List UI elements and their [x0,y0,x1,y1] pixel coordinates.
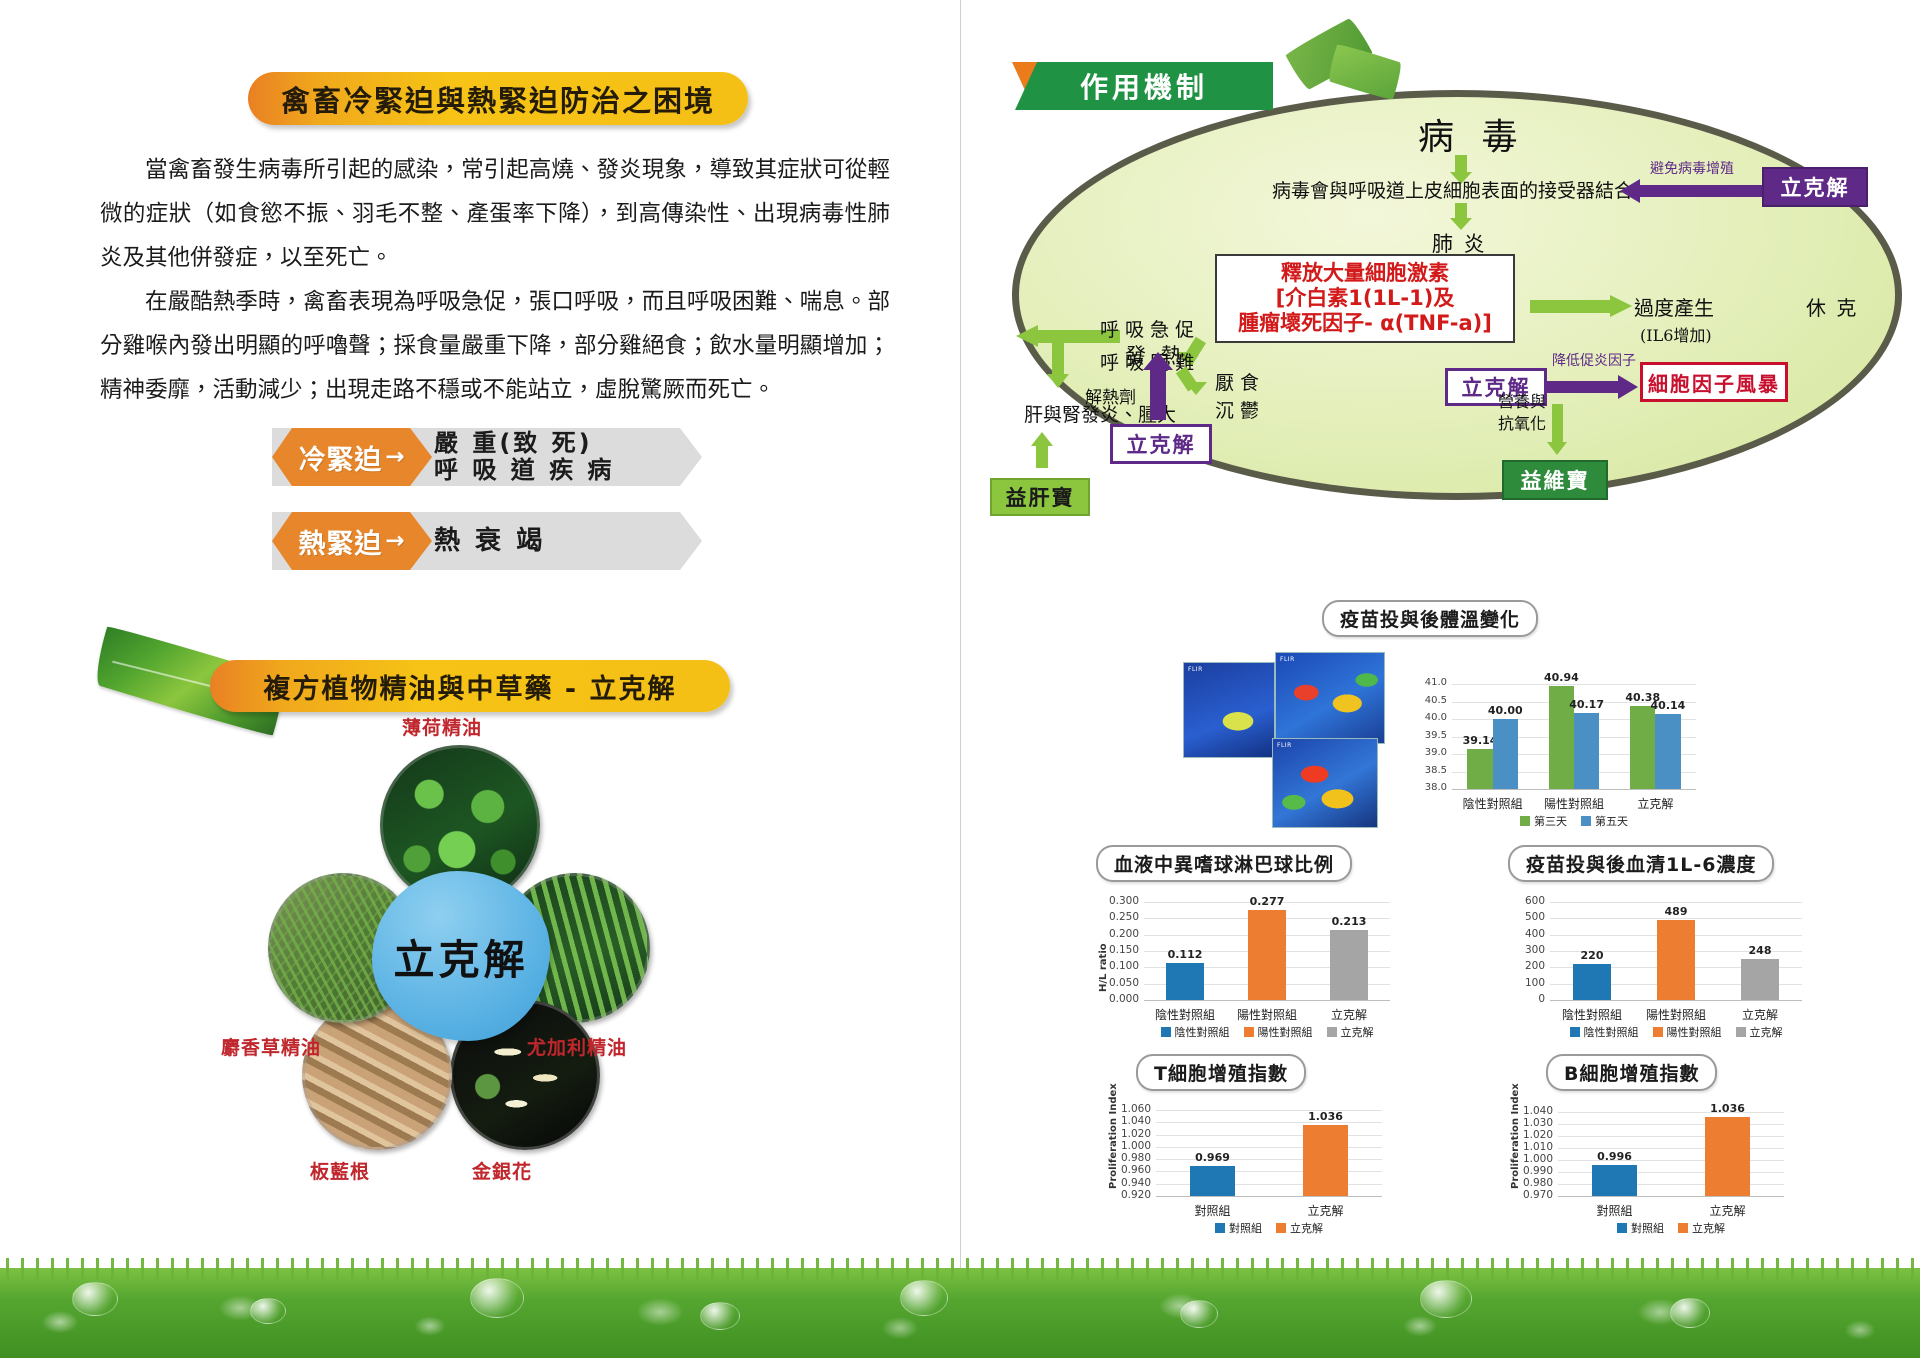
chart-y-tick: 0.940 [1121,1177,1151,1189]
stress-tag-cold-label: 冷緊迫 [298,438,382,477]
flir-watermark: FLIR [1188,666,1203,673]
chart-legend-item: 陽性對照組 [1653,1024,1722,1040]
chart-bar [1574,713,1599,789]
chart-legend-item: 立克解 [1736,1024,1783,1040]
node-il6-note: (IL6增加) [1640,322,1712,346]
chart-y-tick: 0.990 [1523,1165,1553,1177]
chart-bar-value: 40.94 [1543,671,1579,684]
chart-y-tick: 38.5 [1425,765,1447,776]
label-reduce-inflammation: 降低促炎因子 [1552,350,1636,370]
chart-y-tick: 1.040 [1523,1105,1553,1117]
tag-likejie-antiviral: 立克解 [1762,167,1868,207]
chart-y-tick: 0.100 [1109,960,1139,972]
chart-legend-item: 立克解 [1276,1220,1323,1236]
chart-category-label: 對照組 [1156,1202,1269,1219]
petal-label-isatis-root: 板藍根 [310,1157,370,1184]
chart-bar [1330,930,1368,1000]
cytokine-line-2: [介白素1(1L-1)及 [1227,286,1503,311]
chart-gridline [1558,1148,1784,1149]
chart-y-axis-label: H/L ratio [1098,944,1109,993]
water-drop-icon [900,1280,948,1316]
chart-gridline [1156,1110,1382,1111]
chart-legend-item: 立克解 [1327,1024,1374,1040]
chart-y-tick: 0 [1538,993,1545,1005]
right-arrow-icon: → [385,444,405,470]
chart-plot-bcell: 1.0401.0301.0201.0101.0000.9900.9800.970… [1508,1090,1790,1236]
chart-y-tick: 300 [1525,944,1545,956]
ingredient-flower-diagram: 立克解 薄荷精油 尤加利精油 金銀花 板藍根 麝香草精油 [250,745,670,1165]
water-drop-icon [700,1302,740,1330]
leaf-decoration-icon [1326,42,1405,102]
node-virus: 病 毒 [1418,108,1525,160]
chart-legend-item: 陰性對照組 [1570,1024,1639,1040]
chart-bar [1741,959,1780,1000]
product-center-label: 立克解 [394,926,529,986]
chart-category-label: 陽性對照組 [1634,1006,1718,1023]
chart-category-label: 對照組 [1558,1202,1671,1219]
chart-bar-value: 0.112 [1167,948,1203,961]
chart-y-tick: 39.0 [1425,747,1447,758]
chart-y-tick: 41.0 [1425,677,1447,688]
chart-title-temperature: 疫苗投與後體溫變化 [1322,600,1538,637]
flow-arrow-head-icon [1618,375,1638,399]
chart-legend-item: 對照組 [1215,1220,1262,1236]
chart-category-label: 陰性對照組 [1144,1006,1226,1023]
chart-x-axis [1550,1000,1802,1001]
chart-y-tick: 1.010 [1523,1141,1553,1153]
node-dyspnea-1: 呼 吸 急 促 [1100,315,1194,342]
node-shock: 休 克 [1806,292,1858,321]
chart-y-tick: 0.250 [1109,911,1139,923]
chart-bar-value: 1.036 [1308,1110,1344,1123]
water-drop-icon [1670,1298,1710,1328]
chart-gridline [1550,902,1802,903]
chart-bar [1467,749,1492,789]
chart-card-tcell: T細胞增殖指數 [1136,1054,1306,1091]
chart-bar-value: 40.00 [1487,704,1523,717]
panel-divider [960,0,961,1268]
chart-y-tick: 600 [1525,895,1545,907]
chart-card-hl: 血液中異嗜球淋巴球比例 [1096,845,1352,882]
chart-gridline [1558,1112,1784,1113]
chart-bar [1705,1117,1750,1196]
chart-bar [1303,1125,1348,1196]
chart-legend-item: 立克解 [1678,1220,1725,1236]
paragraph-1: 當禽畜發生病毒所引起的感染，常引起高燒、發炎現象，導致其症狀可從輕微的症狀（如食… [100,148,890,280]
cytokine-line-1: 釋放大量細胞激素 [1227,261,1503,286]
chart-y-tick: 0.920 [1121,1189,1151,1201]
chart-legend-item: 第五天 [1581,813,1628,829]
left-title-banner: 禽畜冷緊迫與熱緊迫防治之困境 [248,72,748,125]
chart-x-axis [1144,1000,1390,1001]
chart-bar [1630,706,1655,789]
chart-bar-value: 40.14 [1650,699,1686,712]
stress-tag-cold: 冷緊迫 → [272,428,432,486]
chart-bar-value: 0.277 [1249,895,1285,908]
flow-arrow-head-icon [1031,432,1053,446]
chart-bar-value: 0.213 [1331,915,1367,928]
chart-bar-value: 40.17 [1569,698,1605,711]
chart-y-tick: 0.980 [1523,1177,1553,1189]
chart-title-bcell: B細胞增殖指數 [1546,1054,1717,1091]
thermal-image-3: FLIR [1272,738,1378,828]
chart-bar [1190,1166,1235,1196]
chart-y-axis-label: Proliferation Index [1108,1083,1119,1189]
chart-bar [1657,920,1696,1000]
chart-category-label: 陽性對照組 [1226,1006,1308,1023]
chart-category-label: 立克解 [1308,1006,1390,1023]
chart-x-axis [1452,789,1696,790]
chart-category-label: 立克解 [1615,795,1696,812]
chart-y-tick: 0.200 [1109,928,1139,940]
chart-y-axis-label: Proliferation Index [1510,1083,1521,1189]
petal-label-eucalyptus: 尤加利精油 [527,1033,627,1060]
flow-arrow-shaft [1640,185,1762,197]
chart-bar [1493,719,1518,789]
petal-label-honeysuckle: 金銀花 [472,1157,532,1184]
chart-y-tick: 39.5 [1425,730,1447,741]
chart-title-hl: 血液中異嗜球淋巴球比例 [1096,845,1352,882]
chart-legend-item: 第三天 [1520,813,1567,829]
chart-title-tcell: T細胞增殖指數 [1136,1054,1306,1091]
chart-y-tick: 0.050 [1109,977,1139,989]
chart-category-label: 立克解 [1718,1006,1802,1023]
paragraph-2: 在嚴酷熱季時，禽畜表現為呼吸急促，張口呼吸，而且呼吸困難、喘息。部分雞喉內發出明… [100,280,890,412]
chart-x-axis [1156,1196,1382,1197]
chart-card-temperature: 疫苗投與後體溫變化 [1322,600,1538,637]
water-drop-icon [470,1278,524,1318]
tag-likejie-antipyretic: 立克解 [1110,424,1212,464]
product-center-circle: 立克解 [372,871,550,1041]
left-body-text: 當禽畜發生病毒所引起的感染，常引起高燒、發炎現象，導致其症狀可從輕微的症狀（如食… [100,148,890,412]
chart-gridline [1558,1124,1784,1125]
chart-bar-value: 248 [1742,944,1778,957]
chart-plot-tcell: 1.0601.0401.0201.0000.9800.9600.9400.920… [1106,1090,1388,1236]
chart-y-tick: 0.150 [1109,944,1139,956]
chart-y-tick: 1.020 [1523,1129,1553,1141]
stress-desc-heat: 熱 衰 竭 [434,512,545,570]
chart-legend: 陰性對照組陽性對照組立克解 [1144,1024,1390,1040]
chart-plot-il6: 6005004003002001000220陰性對照組489陽性對照組248立克… [1508,882,1808,1042]
flow-arrow-head-icon [1185,382,1207,395]
chart-y-tick: 200 [1525,960,1545,972]
stress-tag-heat: 熱緊迫 → [272,512,432,570]
flir-watermark: FLIR [1280,656,1295,663]
label-nutrition-1: 營養與 [1498,388,1546,412]
chart-x-axis [1558,1196,1784,1197]
node-receptor-binding: 病毒會與呼吸道上皮細胞表面的接受器結合 [1272,176,1633,203]
stress-tag-heat-label: 熱緊迫 [298,522,382,561]
flow-arrow-head-icon [1620,179,1640,203]
label-nutrition-2: 抗氧化 [1498,410,1546,434]
chart-plot-hl: 0.3000.2500.2000.1500.1000.0500.0000.112… [1096,882,1396,1042]
node-cytokine-storm: 細胞因子風暴 [1640,362,1788,402]
chart-gridline [1156,1147,1382,1148]
chart-y-tick: 0.000 [1109,993,1139,1005]
chart-card-il6: 疫苗投與後血清1L-6濃度 [1508,845,1774,882]
node-anorexia-2: 沉 鬱 [1215,396,1259,423]
chart-plot-temperature: 41.040.540.039.539.038.538.039.1440.00陰性… [1412,655,1702,835]
thermal-image-1: FLIR [1183,662,1275,758]
product-title-banner: 複方植物精油與中草藥 - 立克解 [210,660,730,712]
chart-y-tick: 40.0 [1425,712,1447,723]
chart-legend: 陰性對照組陽性對照組立克解 [1550,1024,1802,1040]
chart-category-label: 立克解 [1269,1202,1382,1219]
brochure-page: 禽畜冷緊迫與熱緊迫防治之困境 當禽畜發生病毒所引起的感染，常引起高燒、發炎現象，… [0,0,1920,1358]
chart-gridline [1156,1159,1382,1160]
chart-y-tick: 1.000 [1121,1140,1151,1152]
water-drop-icon [1180,1300,1218,1328]
chart-bar [1655,714,1680,789]
chart-y-tick: 100 [1525,977,1545,989]
chart-legend-item: 陽性對照組 [1244,1024,1313,1040]
chart-category-label: 立克解 [1671,1202,1784,1219]
label-antipyretic: 解熱劑 [1085,383,1136,408]
chart-y-tick: 1.060 [1121,1103,1151,1115]
flow-arrow-head-icon [1016,325,1038,347]
chart-gridline [1156,1135,1382,1136]
label-prevent-replication: 避免病毒增殖 [1650,158,1734,178]
flow-arrow-head-icon [1547,442,1567,455]
chart-legend: 第三天第五天 [1452,813,1696,829]
chart-bar [1248,910,1286,1000]
chart-y-tick: 0.960 [1121,1164,1151,1176]
chart-category-label: 陽性對照組 [1533,795,1614,812]
chart-card-bcell: B細胞增殖指數 [1546,1054,1717,1091]
water-drop-icon [72,1282,118,1316]
chart-y-tick: 1.000 [1523,1153,1553,1165]
node-overproduction: 過度產生 [1634,292,1714,321]
chart-gridline [1156,1122,1382,1123]
chart-y-tick: 0.980 [1121,1152,1151,1164]
chart-bar [1573,964,1612,1000]
chart-bar-value: 0.996 [1597,1150,1633,1163]
chart-gridline [1452,684,1696,685]
water-drop-icon [250,1298,286,1324]
water-drop-icon [1420,1280,1472,1318]
cytokine-line-3: 腫瘤壞死因子- α(TNF-a)] [1227,311,1503,336]
chart-y-tick: 1.040 [1121,1115,1151,1127]
chart-category-label: 陰性對照組 [1452,795,1533,812]
chart-y-tick: 0.300 [1109,895,1139,907]
right-arrow-icon: → [385,528,405,554]
stress-desc-cold: 嚴 重(致 死) 呼 吸 道 疾 病 [434,430,614,484]
chart-bar-value: 1.036 [1710,1102,1746,1115]
flow-arrow-shaft [1552,404,1563,444]
chart-title-il6: 疫苗投與後血清1L-6濃度 [1508,845,1774,882]
chart-legend: 對照組立克解 [1558,1220,1784,1236]
chart-legend: 對照組立克解 [1156,1220,1382,1236]
cytokine-release-box: 釋放大量細胞激素 [介白素1(1L-1)及 腫瘤壞死因子- α(TNF-a)] [1215,254,1515,343]
chart-y-tick: 0.970 [1523,1189,1553,1201]
chart-category-label: 陰性對照組 [1550,1006,1634,1023]
chart-bar-value: 489 [1658,905,1694,918]
chart-gridline [1558,1136,1784,1137]
chart-bar-value: 0.969 [1195,1151,1231,1164]
chart-bar-value: 220 [1574,949,1610,962]
flow-arrow-head-icon [1047,374,1069,388]
flow-arrow-shaft [1455,155,1467,173]
tag-yiganbao: 益肝寶 [990,478,1090,516]
node-anorexia-1: 厭 食 [1215,368,1259,395]
flir-watermark: FLIR [1277,742,1292,749]
flow-arrow-shaft [1530,300,1612,313]
flow-arrow-shaft [1455,203,1467,219]
tag-yiweibao: 益維寶 [1502,460,1608,500]
flow-arrow-head-icon [1610,295,1632,317]
antipyretic-arrow-head-icon [1143,352,1173,370]
grass-footer [0,1268,1920,1358]
chart-bar [1166,963,1204,1000]
chart-y-tick: 1.030 [1523,1117,1553,1129]
chart-y-tick: 400 [1525,928,1545,940]
chart-y-tick: 500 [1525,911,1545,923]
chart-y-tick: 40.5 [1425,695,1447,706]
chart-gridline [1558,1160,1784,1161]
chart-y-tick: 38.0 [1425,782,1447,793]
flow-arrow-shaft [1547,381,1621,393]
antipyretic-arrow-shaft [1150,368,1166,420]
petal-label-mint: 薄荷精油 [402,713,482,740]
chart-bar [1592,1165,1637,1196]
chart-legend-item: 陰性對照組 [1161,1024,1230,1040]
mechanism-banner: 作用機制 [1015,62,1273,110]
chart-legend-item: 對照組 [1617,1220,1664,1236]
flow-arrow-shaft [1052,336,1064,376]
thermal-image-2: FLIR [1275,652,1385,744]
petal-label-thyme: 麝香草精油 [221,1033,321,1060]
chart-y-tick: 1.020 [1121,1128,1151,1140]
